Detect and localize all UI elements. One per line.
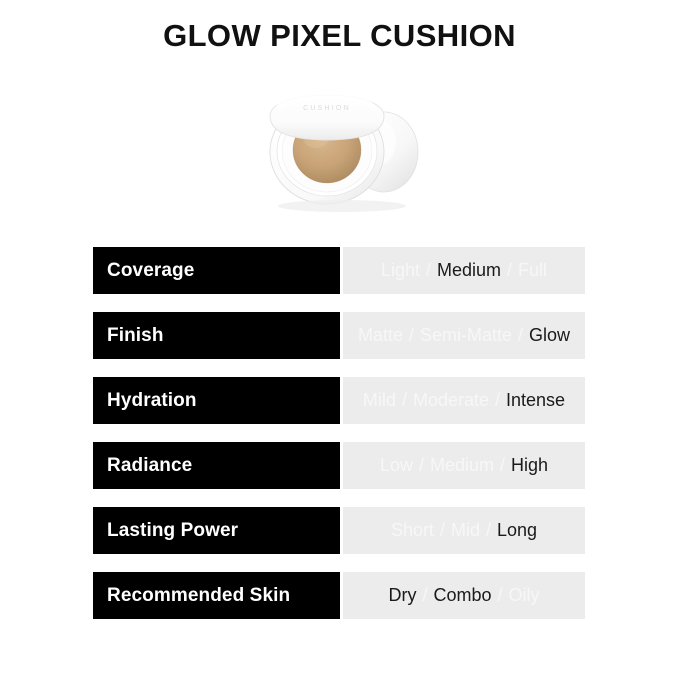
spec-options: Short/Mid/Long xyxy=(343,507,585,554)
spec-row: HydrationMild/Moderate/Intense xyxy=(93,377,585,424)
option-unselected: Light xyxy=(381,260,420,281)
option-separator: / xyxy=(434,520,451,541)
spec-row: CoverageLight/Medium/Full xyxy=(93,247,585,294)
spec-label: Coverage xyxy=(93,247,340,294)
option-separator: / xyxy=(492,585,509,606)
spec-row: RadianceLow/Medium/High xyxy=(93,442,585,489)
option-separator: / xyxy=(512,325,529,346)
cushion-compact-illustration: CUSHION xyxy=(252,78,452,218)
option-separator: / xyxy=(396,390,413,411)
option-separator: / xyxy=(413,455,430,476)
spec-table: CoverageLight/Medium/FullFinishMatte/Sem… xyxy=(93,247,585,619)
spec-label: Lasting Power xyxy=(93,507,340,554)
option-selected: Combo xyxy=(433,585,491,606)
spec-label: Finish xyxy=(93,312,340,359)
spec-options: Light/Medium/Full xyxy=(343,247,585,294)
spec-options: Mild/Moderate/Intense xyxy=(343,377,585,424)
option-unselected: Moderate xyxy=(413,390,489,411)
page-title: GLOW PIXEL CUSHION xyxy=(0,18,679,54)
spec-options: Dry/Combo/Oily xyxy=(343,572,585,619)
option-selected: High xyxy=(511,455,548,476)
product-shadow xyxy=(278,200,406,212)
option-selected: Glow xyxy=(529,325,570,346)
option-unselected: Medium xyxy=(430,455,494,476)
option-unselected: Matte xyxy=(358,325,403,346)
option-separator: / xyxy=(489,390,506,411)
option-unselected: Mid xyxy=(451,520,480,541)
option-selected: Intense xyxy=(506,390,565,411)
option-separator: / xyxy=(416,585,433,606)
spec-row: FinishMatte/Semi-Matte/Glow xyxy=(93,312,585,359)
spec-options: Matte/Semi-Matte/Glow xyxy=(343,312,585,359)
spec-label: Radiance xyxy=(93,442,340,489)
lid-embossed-text: CUSHION xyxy=(303,105,351,112)
option-separator: / xyxy=(494,455,511,476)
product-spec-page: GLOW PIXEL CUSHION xyxy=(0,0,679,679)
spec-row: Lasting PowerShort/Mid/Long xyxy=(93,507,585,554)
option-selected: Medium xyxy=(437,260,501,281)
option-separator: / xyxy=(420,260,437,281)
option-unselected: Full xyxy=(518,260,547,281)
option-selected: Dry xyxy=(388,585,416,606)
option-separator: / xyxy=(403,325,420,346)
spec-row: Recommended SkinDry/Combo/Oily xyxy=(93,572,585,619)
option-selected: Long xyxy=(497,520,537,541)
option-unselected: Mild xyxy=(363,390,396,411)
option-unselected: Oily xyxy=(509,585,540,606)
spec-options: Low/Medium/High xyxy=(343,442,585,489)
compact-lid-icon: CUSHION xyxy=(270,95,384,140)
option-separator: / xyxy=(480,520,497,541)
option-separator: / xyxy=(501,260,518,281)
spec-label: Hydration xyxy=(93,377,340,424)
option-unselected: Low xyxy=(380,455,413,476)
product-image: CUSHION xyxy=(252,78,452,218)
spec-label: Recommended Skin xyxy=(93,572,340,619)
option-unselected: Short xyxy=(391,520,434,541)
option-unselected: Semi-Matte xyxy=(420,325,512,346)
